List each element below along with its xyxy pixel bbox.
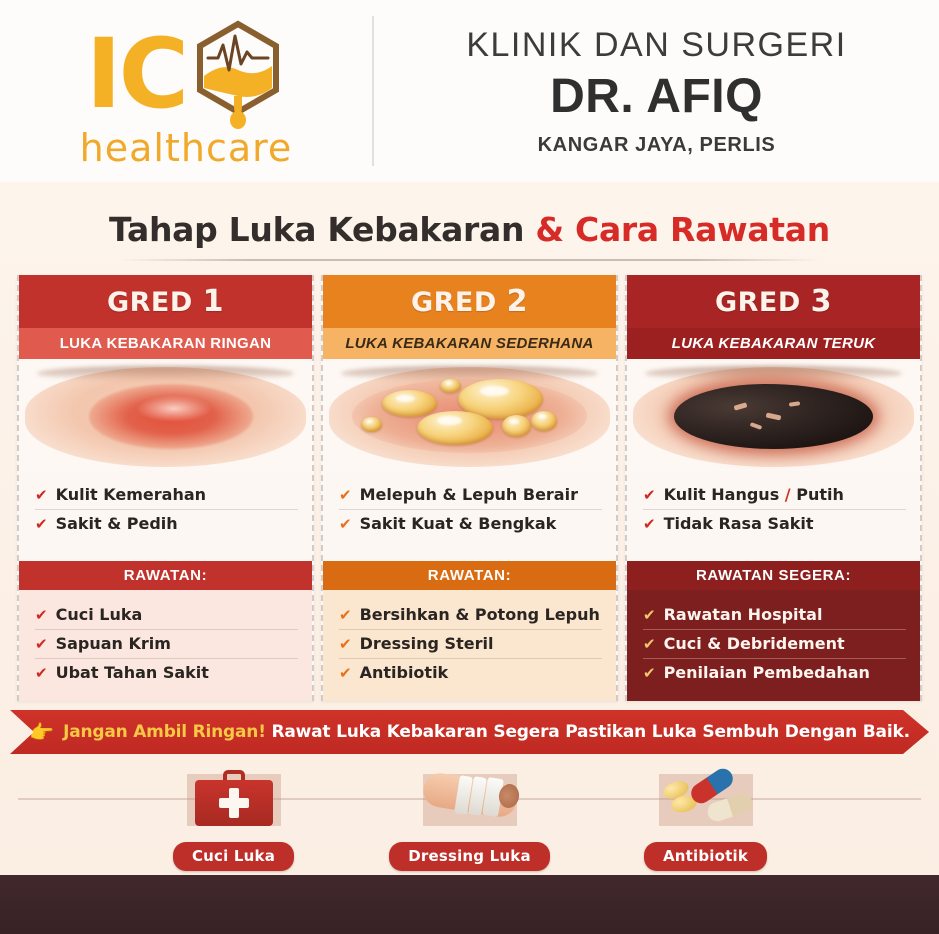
symptom-label: Sakit Kuat & Bengkak [360,514,557,533]
warning-ribbon-wrap: 👉 Jangan Ambil Ringan! Rawat Luka Kebaka… [0,710,939,756]
list-item: ✔ Kulit Hangus / Putih [643,481,906,509]
warning-ribbon: 👉 Jangan Ambil Ringan! Rawat Luka Kebaka… [10,710,929,754]
skin-highlight [136,395,212,422]
hexagon-ecg-drop-logo-icon [190,18,286,130]
check-icon: ✔ [643,517,656,532]
card-3-grade-word: GRED [715,287,801,318]
card-2-grade-number: 2 [507,284,528,319]
treatment-label: Ubat Tahan Sakit [56,663,209,682]
card-3-rawatan-band: RAWATAN SEGERA: [627,561,920,590]
charred-eschar [674,384,873,449]
list-item: ✔ Sakit Kuat & Bengkak [339,509,602,538]
card-1-grade-word: GRED [107,287,193,318]
blister [361,417,382,432]
logo-row: IC [86,18,286,130]
pills-capsules-icon [641,768,771,838]
page-title-part1: Tahap Luka Kebakaran [109,210,535,249]
check-icon: ✔ [643,488,656,503]
symptom-label: Sakit & Pedih [56,514,178,533]
check-icon: ✔ [35,517,48,532]
card-2-header: GRED 2 [323,275,616,328]
symptom-label: Melepuh & Lepuh Berair [360,485,578,504]
list-item: ✔ Antibiotik [339,658,602,687]
treatment-label: Bersihkan & Potong Lepuh [360,605,600,624]
list-item: ✔ Ubat Tahan Sakit [35,658,298,687]
treatment-label: Cuci Luka [56,605,143,624]
list-item: ✔ Melepuh & Lepuh Berair [339,481,602,509]
treatment-label: Antibiotik [360,663,449,682]
page-title-part2: & Cara Rawatan [535,210,830,249]
list-item: ✔ Dressing Steril [339,629,602,658]
card-2-treatments: ✔ Bersihkan & Potong Lepuh ✔ Dressing St… [323,590,616,701]
card-grade-2: GRED 2 LUKA KEBAKARAN SEDERHANA ✔ Melep [321,275,618,701]
icon-label: Cuci Luka [173,842,294,871]
burn-grade-1-image [19,359,312,471]
burn-grade-3-image [627,359,920,471]
infographic-body: Tahap Luka Kebakaran & Cara Rawatan GRED… [0,182,939,875]
card-3-grade-number: 3 [811,284,832,319]
treatment-label: Dressing Steril [360,634,494,653]
list-item: ✔ Bersihkan & Potong Lepuh [339,601,602,629]
symptom-label: Kulit Kemerahan [56,485,206,504]
list-item: ✔ Tidak Rasa Sakit [643,509,906,538]
list-item: ✔ Cuci & Debridement [643,629,906,658]
list-item: ✔ Cuci Luka [35,601,298,629]
clinic-location: KANGAR JAYA, PERLIS [538,134,776,157]
card-grade-3: GRED 3 LUKA KEBAKARAN TERUK ✔ Kulit Hang… [625,275,922,701]
list-item: ✔ Penilaian Pembedahan [643,658,906,687]
grade-cards: GRED 1 LUKA KEBAKARAN RINGAN ✔ Kulit Kem… [0,275,939,701]
check-icon: ✔ [35,488,48,503]
treatment-icons: Cuci Luka Dressing Luka Antibiotik [0,768,939,871]
check-icon: ✔ [339,608,352,623]
blister [440,379,461,392]
card-2-symptoms: ✔ Melepuh & Lepuh Berair ✔ Sakit Kuat & … [323,471,616,561]
icon-col-antibiotik: Antibiotik [620,768,792,871]
treatment-label: Cuci & Debridement [664,634,845,653]
list-item: ✔ Sapuan Krim [35,629,298,658]
clinic-identity: KLINIK DAN SURGERI DR. AFIQ KANGAR JAYA,… [374,26,939,157]
title-underline [120,259,820,261]
card-1-subtitle: LUKA KEBAKARAN RINGAN [19,328,312,359]
card-1-treatments: ✔ Cuci Luka ✔ Sapuan Krim ✔ Ubat Tahan S… [19,590,312,701]
treatment-label: Sapuan Krim [56,634,171,653]
card-2-grade-word: GRED [411,287,497,318]
page-title: Tahap Luka Kebakaran & Cara Rawatan [0,196,939,249]
page-header: IC healthcare KLINIK DAN SURGERI DR. AFI… [0,0,939,182]
logo-wordmark: IC [86,31,186,117]
icon-col-cuci-luka: Cuci Luka [148,768,320,871]
icon-label: Dressing Luka [389,842,550,871]
ribbon-text: Jangan Ambil Ringan! Rawat Luka Kebakara… [63,722,910,742]
check-icon: ✔ [643,666,656,681]
card-3-header: GRED 3 [627,275,920,328]
symptom-label: Kulit Hangus / Putih [664,485,844,504]
brand-logo: IC healthcare [0,0,372,182]
treatment-label: Rawatan Hospital [664,605,823,624]
treatment-label: Penilaian Pembedahan [664,663,870,682]
card-grade-1: GRED 1 LUKA KEBAKARAN RINGAN ✔ Kulit Kem… [17,275,314,701]
card-1-header: GRED 1 [19,275,312,328]
ribbon-rest: Rawat Luka Kebakaran Segera Pastikan Luk… [266,722,910,742]
footer-bar [0,875,939,934]
card-3-symptoms: ✔ Kulit Hangus / Putih ✔ Tidak Rasa Saki… [627,471,920,561]
card-2-subtitle: LUKA KEBAKARAN SEDERHANA [323,328,616,359]
card-3-treatments: ✔ Rawatan Hospital ✔ Cuci & Debridement … [627,590,920,701]
check-icon: ✔ [35,608,48,623]
list-item: ✔ Sakit & Pedih [35,509,298,538]
check-icon: ✔ [643,608,656,623]
blister [531,411,557,431]
card-1-grade-number: 1 [203,284,224,319]
burn-grade-2-image [323,359,616,471]
icon-label: Antibiotik [644,842,767,871]
check-icon: ✔ [35,666,48,681]
cross-icon [219,798,249,808]
card-2-rawatan-band: RAWATAN: [323,561,616,590]
check-icon: ✔ [339,666,352,681]
check-icon: ✔ [339,637,352,652]
check-icon: ✔ [339,488,352,503]
card-1-symptoms: ✔ Kulit Kemerahan ✔ Sakit & Pedih [19,471,312,561]
check-icon: ✔ [35,637,48,652]
check-icon: ✔ [339,517,352,532]
card-1-rawatan-band: RAWATAN: [19,561,312,590]
card-3-subtitle: LUKA KEBAKARAN TERUK [627,328,920,359]
pointing-hand-icon: 👉 [29,720,54,745]
list-item: ✔ Rawatan Hospital [643,601,906,629]
ribbon-highlight: Jangan Ambil Ringan! [63,722,266,742]
check-icon: ✔ [643,637,656,652]
first-aid-kit-icon [169,768,299,838]
clinic-type: KLINIK DAN SURGERI [466,26,846,65]
bandaged-limb-icon [405,768,535,838]
symptom-label: Tidak Rasa Sakit [664,514,814,533]
clinic-doctor-name: DR. AFIQ [550,69,763,124]
blister [417,411,493,446]
icon-col-dressing-luka: Dressing Luka [384,768,556,871]
list-item: ✔ Kulit Kemerahan [35,481,298,509]
logo-tagline: healthcare [80,126,293,170]
